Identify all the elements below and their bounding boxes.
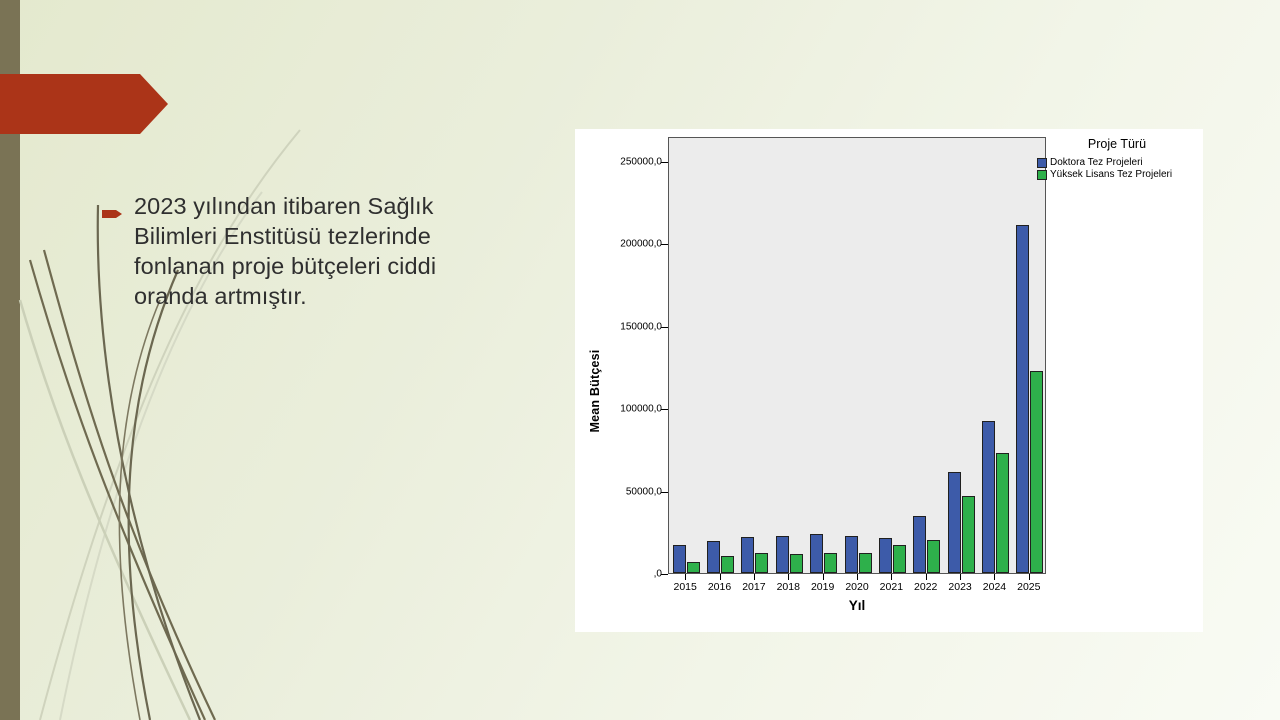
y-tick-mark: [661, 327, 668, 328]
y-tick-label: 200000,0: [582, 239, 662, 250]
bar-2025-yuksek-lisans: [1030, 371, 1043, 573]
chart-panel: Mean Bütçesi Yıl ,050000,0100000,0150000…: [575, 129, 1203, 632]
bar-2016-yuksek-lisans: [721, 556, 734, 573]
y-tick-label: 150000,0: [582, 321, 662, 332]
bar-2021-doktora: [879, 538, 892, 573]
y-tick-mark: [661, 162, 668, 163]
bar-2019-doktora: [810, 534, 823, 573]
bar-2016-doktora: [707, 541, 720, 573]
chart-legend: Proje Türü Doktora Tez ProjeleriYüksek L…: [1037, 137, 1203, 181]
bar-2022-doktora: [913, 516, 926, 573]
legend-entries: Doktora Tez ProjeleriYüksek Lisans Tez P…: [1037, 157, 1203, 180]
bar-2018-yuksek-lisans: [790, 554, 803, 573]
bullet-text: 2023 yılından itibaren Sağlık Bilimleri …: [134, 192, 500, 312]
legend-label: Doktora Tez Projeleri: [1050, 157, 1143, 168]
bullet-paragraph: 2023 yılından itibaren Sağlık Bilimleri …: [100, 192, 500, 312]
x-tick-mark: [823, 574, 824, 580]
y-axis-title: Mean Bütçesi: [588, 331, 602, 451]
bar-2023-doktora: [948, 472, 961, 573]
legend-swatch: [1037, 170, 1047, 180]
y-tick-mark: [661, 492, 668, 493]
legend-entry: Doktora Tez Projeleri: [1037, 157, 1203, 168]
y-tick-label: 50000,0: [582, 486, 662, 497]
bar-2024-yuksek-lisans: [996, 453, 1009, 573]
bar-2025-doktora: [1016, 225, 1029, 573]
x-tick-mark: [960, 574, 961, 580]
bar-2015-yuksek-lisans: [687, 562, 700, 573]
legend-title: Proje Türü: [1037, 137, 1197, 151]
x-tick-mark: [720, 574, 721, 580]
chart-inner: Mean Bütçesi Yıl ,050000,0100000,0150000…: [575, 129, 1203, 632]
legend-entry: Yüksek Lisans Tez Projeleri: [1037, 169, 1203, 180]
bar-2022-yuksek-lisans: [927, 540, 940, 573]
bar-2015-doktora: [673, 545, 686, 573]
bar-2023-yuksek-lisans: [962, 496, 975, 573]
y-tick-label: 250000,0: [582, 156, 662, 167]
bar-2020-doktora: [845, 536, 858, 573]
bar-2017-yuksek-lisans: [755, 553, 768, 573]
bar-2019-yuksek-lisans: [824, 553, 837, 573]
arrow-banner-shape: [0, 74, 168, 134]
bar-2020-yuksek-lisans: [859, 553, 872, 573]
legend-label: Yüksek Lisans Tez Projeleri: [1050, 169, 1172, 180]
x-tick-mark: [926, 574, 927, 580]
bar-2018-doktora: [776, 536, 789, 573]
x-tick-mark: [788, 574, 789, 580]
x-tick-mark: [1029, 574, 1030, 580]
x-tick-label: 2025: [1007, 581, 1051, 593]
y-tick-mark: [661, 244, 668, 245]
plot-area: [668, 137, 1046, 574]
y-tick-mark: [661, 409, 668, 410]
y-tick-label: ,0: [582, 569, 662, 580]
slide-canvas: 2023 yılından itibaren Sağlık Bilimleri …: [0, 0, 1280, 720]
arrow-bullet-icon: [100, 201, 126, 227]
y-tick-label: 100000,0: [582, 404, 662, 415]
bar-2024-doktora: [982, 421, 995, 573]
x-tick-mark: [685, 574, 686, 580]
x-tick-mark: [994, 574, 995, 580]
x-tick-mark: [857, 574, 858, 580]
x-tick-mark: [754, 574, 755, 580]
x-tick-mark: [891, 574, 892, 580]
y-tick-mark: [661, 574, 668, 575]
legend-swatch: [1037, 158, 1047, 168]
bar-2021-yuksek-lisans: [893, 545, 906, 573]
bar-2017-doktora: [741, 537, 754, 573]
x-axis-title: Yıl: [668, 598, 1046, 613]
